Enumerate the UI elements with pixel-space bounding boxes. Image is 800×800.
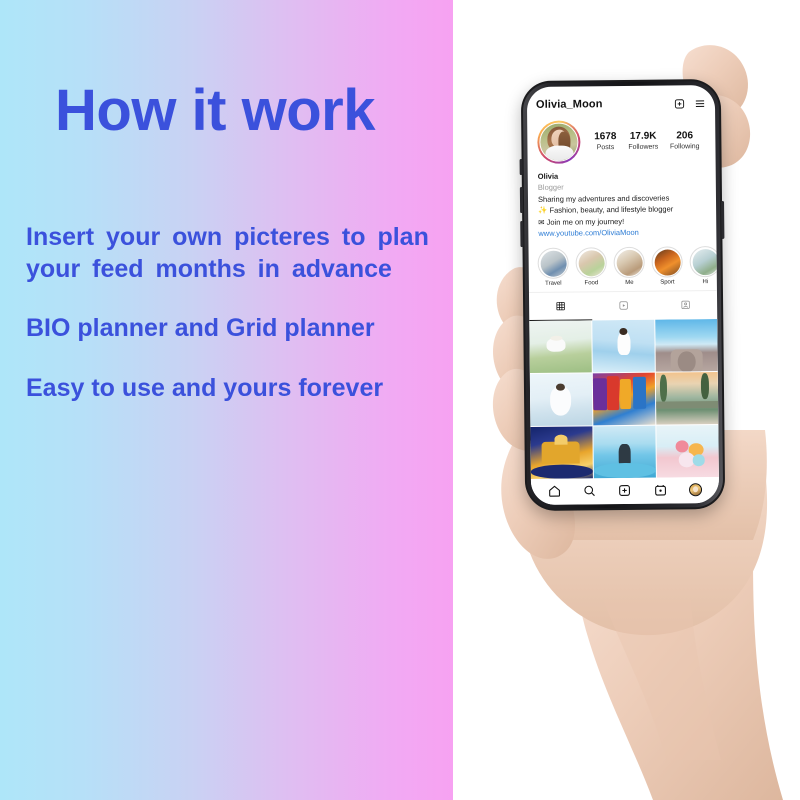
grid-icon: [556, 297, 565, 315]
profile-tabs: [529, 290, 717, 321]
add-box-icon[interactable]: [674, 98, 685, 109]
stat-followers-label: Followers: [628, 143, 658, 152]
page-title: How it work: [55, 82, 375, 140]
reels-tab[interactable]: [592, 291, 655, 320]
stat-following-label: Following: [670, 142, 700, 151]
highlight-me[interactable]: Me: [614, 247, 645, 288]
profile-avatar[interactable]: [537, 120, 580, 163]
grid-item[interactable]: [656, 425, 718, 478]
mute-switch[interactable]: [520, 159, 523, 175]
phone-screen: Olivia_Moon: [527, 85, 719, 505]
grid-item[interactable]: [655, 319, 717, 372]
reels-icon: [619, 297, 628, 315]
profile-stats-row: 1678 Posts 17.9K Followers 206 Following: [527, 114, 716, 166]
tagged-icon: [681, 296, 690, 314]
smartphone: Olivia_Moon: [521, 79, 725, 511]
feature-item-1: Insert your own picteres to plan your fe…: [26, 222, 446, 285]
feature-list: Insert your own picteres to plan your fe…: [26, 222, 446, 432]
phone-showcase: Olivia_Moon: [453, 0, 800, 800]
add-post-icon[interactable]: [618, 484, 631, 497]
photo-grid: [529, 319, 719, 479]
avatar-image: [539, 122, 578, 161]
highlight-label: Sport: [652, 280, 683, 288]
volume-down-button[interactable]: [520, 221, 523, 247]
feature-item-2: BIO planner and Grid planner: [26, 313, 446, 345]
search-icon[interactable]: [583, 484, 596, 497]
topbar-actions: [674, 98, 706, 109]
highlight-label: Food: [576, 281, 607, 289]
reels-icon[interactable]: [654, 484, 667, 497]
grid-item[interactable]: [593, 426, 655, 479]
bottom-navigation: [531, 477, 719, 505]
profile-username: Olivia_Moon: [536, 98, 603, 111]
grid-item[interactable]: [592, 319, 654, 372]
highlight-food[interactable]: Food: [576, 248, 607, 289]
grid-item[interactable]: [529, 320, 591, 373]
highlight-travel[interactable]: Travel: [538, 248, 569, 289]
highlight-sport[interactable]: Sport: [651, 247, 682, 288]
instagram-topbar: Olivia_Moon: [527, 85, 715, 116]
highlight-hiking[interactable]: Hi: [689, 246, 716, 287]
stat-posts-value: 1678: [594, 131, 616, 144]
stat-followers[interactable]: 17.9K Followers: [628, 130, 658, 152]
promo-content: How it work Insert your own picteres to …: [26, 0, 446, 800]
grid-item[interactable]: [593, 372, 655, 425]
bio-external-link[interactable]: www.youtube.com/OliviaMoon: [538, 226, 706, 240]
hamburger-menu-icon[interactable]: [694, 98, 706, 109]
stats-group: 1678 Posts 17.9K Followers 206 Following: [588, 130, 705, 153]
grid-item[interactable]: [530, 426, 592, 479]
power-button[interactable]: [721, 201, 724, 239]
profile-avatar-icon[interactable]: [689, 483, 702, 496]
grid-item[interactable]: [530, 373, 592, 426]
stat-following-value: 206: [670, 130, 700, 143]
grid-tab[interactable]: [529, 292, 592, 321]
stat-posts[interactable]: 1678 Posts: [594, 131, 616, 153]
grid-item[interactable]: [656, 372, 718, 425]
poster-root: How it work Insert your own picteres to …: [0, 0, 800, 800]
stat-followers-value: 17.9K: [628, 130, 658, 143]
profile-bio: Olivia Blogger Sharing my adventures and…: [528, 164, 717, 242]
highlight-label: Me: [614, 280, 645, 288]
volume-up-button[interactable]: [520, 187, 523, 213]
feature-item-3: Easy to use and yours forever: [26, 373, 446, 405]
stat-posts-label: Posts: [594, 143, 616, 152]
promo-panel: How it work Insert your own picteres to …: [0, 0, 453, 800]
story-highlights: Travel Food Me Sport: [528, 240, 717, 291]
tagged-tab[interactable]: [654, 291, 717, 320]
stat-following[interactable]: 206 Following: [670, 130, 700, 152]
home-icon[interactable]: [548, 485, 561, 498]
highlight-label: Travel: [538, 281, 569, 289]
highlight-label: Hi: [690, 279, 717, 287]
